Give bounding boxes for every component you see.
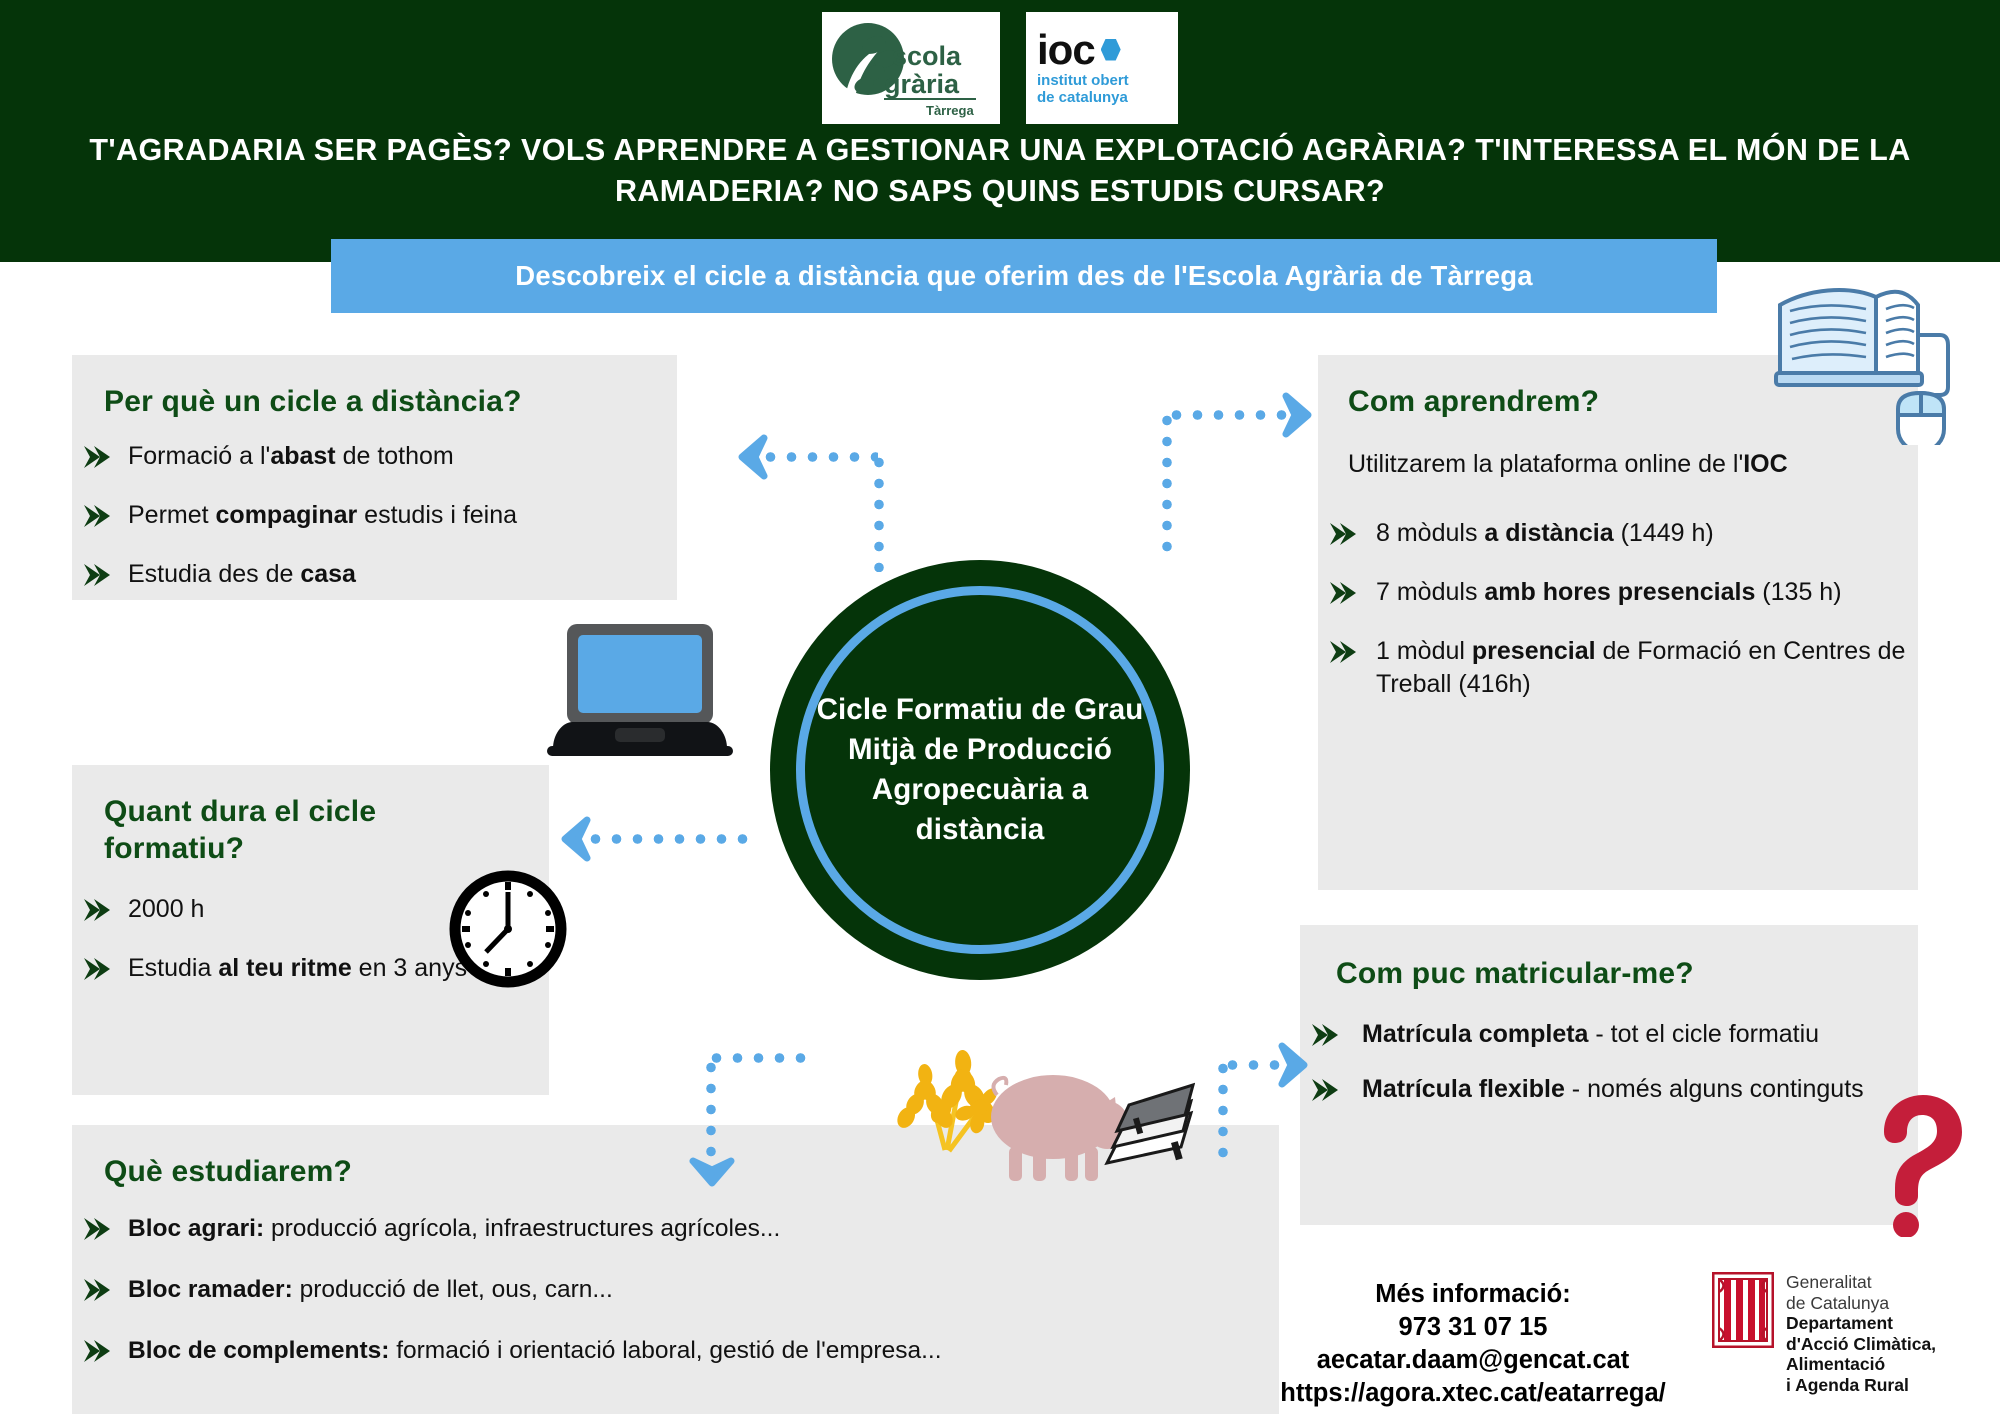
subtitle-text: Descobreix el cicle a distància que ofer… [515,260,1532,292]
list-item: Formació a l'abast de tothom [72,440,677,473]
list-item: Permet compaginar estudis i feina [72,499,677,532]
panel-enroll-heading: Com puc matricular-me? [1336,955,1918,992]
item-pre: 2000 h [128,895,204,923]
gencat-line4: d'Acció Climàtica, [1786,1334,1936,1355]
item-pre: 8 mòduls [1376,519,1484,547]
item-pre: Permet [128,501,216,529]
chevron-right-icon [82,956,116,982]
more-info-label: Més informació: [1258,1278,1688,1311]
panel-learn-list: 8 mòduls a distància (1449 h) 7 mòduls a… [1318,517,1918,701]
ioc-wordmark: ioc [1037,31,1121,69]
main-headline: T'AGRADARIA SER PAGÈS? VOLS APRENDRE A G… [0,130,2000,212]
ioc-hexagon-icon [1101,39,1121,61]
ioc-subtitle-line2: de catalunya [1037,89,1128,106]
arrow-right-top [1280,392,1320,438]
escola-agraria-mark: scola grària Tàrrega [826,15,996,121]
item-post: - tot el cicle formatiu [1588,1020,1819,1048]
item-strong: Bloc ramader: [128,1276,293,1303]
chevron-right-icon [82,1216,116,1242]
svg-text:scola: scola [892,41,962,71]
panel-why-list: Formació a l'abast de tothom Permet comp… [72,440,677,591]
list-item: Bloc agrari: producció agrícola, infraes… [72,1212,1279,1245]
list-item: Matrícula completa - tot el cicle format… [1300,1018,1918,1051]
arrow-left-mid [553,816,593,862]
connector-vertical-bottom-left [706,1057,716,1167]
chevron-right-icon [82,1277,116,1303]
item-post: formació i orientació laboral, gestió de… [389,1337,941,1364]
item-strong: al teu ritme [218,954,351,982]
svg-text:Tàrrega: Tàrrega [926,103,974,118]
arrow-down-bottom-left [689,1155,729,1201]
generalitat-text: Generalitat de Catalunya Departament d'A… [1786,1272,1936,1395]
infographic-root: scola grària Tàrrega ioc institut obert … [0,0,2000,1414]
panel-why-distance: Per què un cicle a distància? Formació a… [72,355,677,600]
chevron-right-icon [82,897,116,923]
contact-website[interactable]: https://agora.xtec.cat/eatarrega/ [1258,1377,1688,1410]
clock-icon [448,868,568,990]
item-post: (1449 h) [1614,519,1714,547]
item-post: producció de llet, ous, carn... [293,1276,613,1303]
laptop-icon [545,618,735,758]
list-item: Estudia des de casa [72,558,677,591]
panel-enroll-list: Matrícula completa - tot el cicle format… [1300,1018,1918,1106]
footer-contact-block: Més informació: 973 31 07 15 aecatar.daa… [1258,1278,1688,1410]
item-pre: Formació a l' [128,442,270,470]
item-pre: 1 mòdul [1376,637,1472,665]
gencat-line1: Generalitat [1786,1272,1936,1293]
item-strong: casa [300,560,356,588]
chevron-right-icon [1328,580,1362,606]
chevron-right-icon [82,503,116,529]
escola-agraria-logo: scola grària Tàrrega [822,12,1000,124]
list-item: Bloc ramader: producció de llet, ous, ca… [72,1273,1279,1306]
list-item: 8 mòduls a distància (1449 h) [1318,517,1918,550]
ioc-logo: ioc institut obert de catalunya [1026,12,1178,124]
item-pre: 7 mòduls [1376,578,1484,606]
panel-why-heading: Per què un cicle a distància? [104,383,677,420]
item-strong: presencial [1472,637,1596,665]
subtitle-band: Descobreix el cicle a distància que ofer… [331,239,1717,313]
item-strong: Bloc agrari: [128,1215,264,1242]
chevron-right-icon [82,1338,116,1364]
gencat-line5: Alimentació [1786,1354,1936,1375]
item-strong: a distància [1484,519,1613,547]
contact-phone[interactable]: 973 31 07 15 [1258,1311,1688,1344]
logo-row: scola grària Tàrrega ioc institut obert … [0,12,2000,122]
wheat-pig-books-icon [885,1035,1195,1195]
item-pre: Estudia des de [128,560,300,588]
panel-duration-heading: Quant dura el cicle formatiu? [104,793,517,867]
item-strong: abast [270,442,335,470]
chevron-right-icon [82,444,116,470]
arrow-left-top [730,434,770,480]
list-item: Bloc de complements: formació i orientac… [72,1334,1279,1367]
item-strong: Bloc de complements: [128,1337,389,1364]
connector-vertical-bottom-right [1218,1058,1228,1168]
item-post: de tothom [336,442,454,470]
item-pre: Estudia [128,954,218,982]
list-item: 1 mòdul presencial de Formació en Centre… [1318,635,1918,701]
connector-vertical-top-left [874,452,884,572]
ioc-subtitle-line1: institut obert [1037,72,1129,89]
panel-how-to-enroll: Com puc matricular-me? Matrícula complet… [1300,925,1918,1225]
item-strong: amb hores presencials [1484,578,1755,606]
item-strong: Matrícula completa [1362,1020,1588,1048]
catalonia-shield-icon [1712,1272,1774,1348]
connector-horizontal-bottom-left [706,1053,811,1063]
question-mark-icon [1866,1092,1971,1237]
gencat-line2: de Catalunya [1786,1293,1936,1314]
contact-email[interactable]: aecatar.daam@gencat.cat [1258,1344,1688,1377]
connector-horizontal-mid-left [585,834,750,844]
paragraph-pre: Utilitzarem la plataforma online de l' [1348,450,1743,478]
chevron-right-icon [1328,639,1362,665]
svg-text:grària: grària [884,69,960,99]
item-strong: Matrícula flexible [1362,1075,1565,1103]
ioc-word: ioc [1037,31,1095,69]
center-circle-title: Cicle Formatiu de Grau Mitjà de Producci… [815,690,1145,850]
connector-horizontal-top-right [1166,410,1296,420]
list-item: Matrícula flexible - només alguns contin… [1300,1073,1918,1106]
item-post: producció agrícola, infraestructures agr… [264,1215,780,1242]
chevron-right-icon [1328,521,1362,547]
panel-study-list: Bloc agrari: producció agrícola, infraes… [72,1212,1279,1367]
item-post: - només alguns continguts [1565,1075,1864,1103]
gencat-line6: i Agenda Rural [1786,1375,1936,1396]
gencat-line3: Departament [1786,1313,1936,1334]
item-post: (135 h) [1755,578,1841,606]
item-post: estudis i feina [357,501,517,529]
generalitat-logo: Generalitat de Catalunya Departament d'A… [1712,1272,1992,1404]
connector-vertical-top-right [1162,410,1172,560]
paragraph-strong: IOC [1743,450,1787,478]
book-and-mouse-icon [1768,275,1983,445]
center-circle: Cicle Formatiu de Grau Mitjà de Producci… [770,560,1190,980]
chevron-right-icon [82,562,116,588]
arrow-right-bottom [1276,1042,1316,1088]
connector-horizontal-top-left [760,452,878,462]
list-item: 7 mòduls amb hores presencials (135 h) [1318,576,1918,609]
panel-learn-paragraph: Utilitzarem la plataforma online de l'IO… [1348,448,1818,481]
item-strong: compaginar [216,501,358,529]
